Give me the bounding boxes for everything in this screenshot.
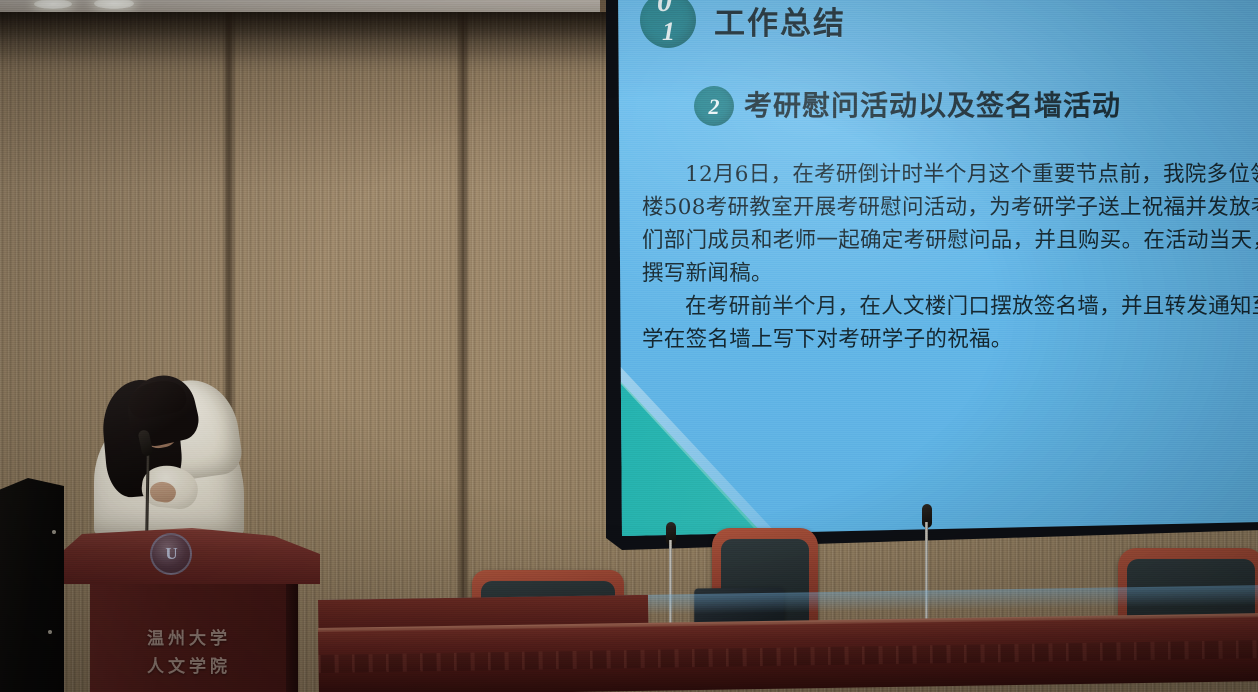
slide-body-line: 在考研前半个月，在人文楼门口摆放签名墙，并且转发通知至各 — [642, 290, 1258, 323]
presenter — [86, 374, 246, 534]
slide-subtitle: 考研慰问活动以及签名墙活动 — [744, 84, 1121, 124]
badge-01-top-digit: 0 — [657, 0, 672, 17]
screw-icon — [48, 630, 52, 634]
screw-icon — [52, 530, 56, 534]
university-emblem-icon: U — [150, 533, 192, 575]
presentation-slide: 0 1 工作总结 2 考研慰问活动以及签名墙活动 12月6日，在考研倒计时半个月… — [618, 0, 1258, 538]
slide-body-line: 12月6日，在考研倒计时半个月这个重要节点前，我院多位领导 — [642, 158, 1258, 191]
badge-01-bottom-digit: 1 — [662, 19, 675, 45]
slide-body-text: 12月6日，在考研倒计时半个月这个重要节点前，我院多位领导 楼508考研教室开展… — [642, 158, 1258, 356]
podium-inscription: 温州大学 人文学院 — [114, 624, 264, 677]
podium-top — [64, 528, 320, 584]
slide-badge-2: 2 — [694, 86, 734, 126]
slide-title: 工作总结 — [714, 0, 846, 43]
slide-badge-01: 0 1 — [640, 0, 696, 48]
wall-seam — [456, 12, 470, 652]
badge-2-digit: 2 — [709, 96, 720, 118]
slide-body-line: 学在签名墙上写下对考研学子的祝福。 — [642, 323, 1258, 356]
emblem-letter: U — [165, 544, 176, 564]
slide-body-line: 楼508考研教室开展考研慰问活动，为考研学子送上祝福并发放考研 — [642, 191, 1258, 224]
lecture-hall-photo: 0 1 工作总结 2 考研慰问活动以及签名墙活动 12月6日，在考研倒计时半个月… — [0, 0, 1258, 692]
podium-inscription-line1: 温州大学 — [114, 624, 264, 649]
podium-inscription-line2: 人文学院 — [114, 652, 264, 677]
podium-side-edge — [286, 572, 298, 692]
slide-wave-decoration — [618, 362, 938, 538]
slide-body-line: 撰写新闻稿。 — [642, 257, 1258, 290]
podium: U 温州大学 人文学院 — [64, 528, 320, 692]
slide-body-line: 们部门成员和老师一起确定考研慰问品，并且购买。在活动当天，联 — [642, 224, 1258, 257]
speaker-cabinet — [0, 478, 64, 692]
